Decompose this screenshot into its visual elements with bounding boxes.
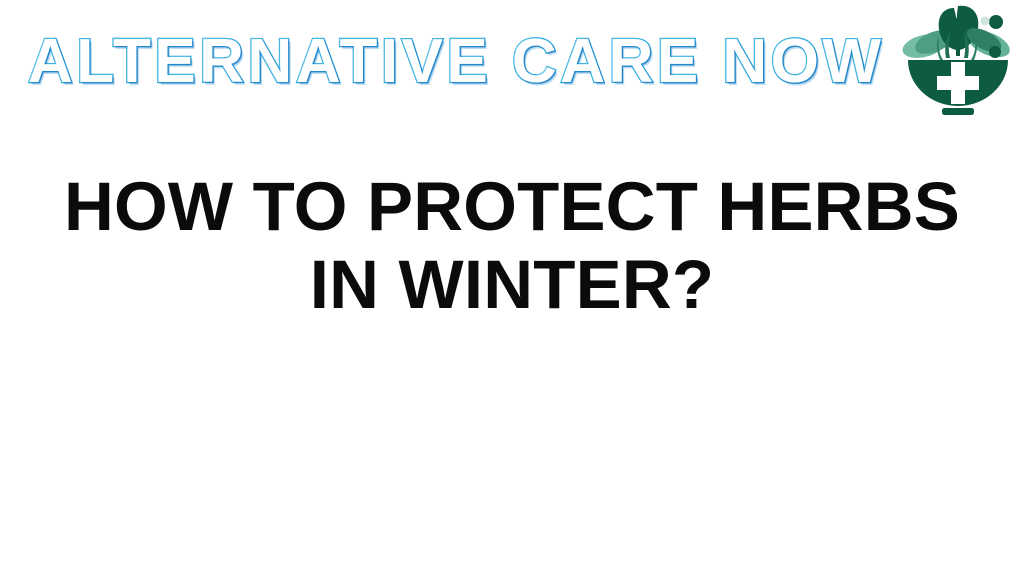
brand-logo [896,0,1020,118]
headline: HOW TO PROTECT HERBS IN WINTER? [0,168,1024,324]
brand-wordmark: ALTERNATIVE CARE NOW [28,26,884,98]
headline-line-1: HOW TO PROTECT HERBS [0,168,1024,246]
slide-canvas: ALTERNATIVE CARE NOW [0,0,1024,576]
stem-icon-center [956,18,960,56]
berry-dot-icon-2 [981,17,990,26]
headline-line-2: IN WINTER? [0,246,1024,324]
brand-header: ALTERNATIVE CARE NOW [0,0,1024,122]
mortar-base-icon [942,108,974,115]
mortar-bowl-with-herbs-and-cross-icon [896,0,1020,118]
berry-dot-icon-3 [989,46,1001,58]
berry-dot-icon-1 [989,15,1003,29]
